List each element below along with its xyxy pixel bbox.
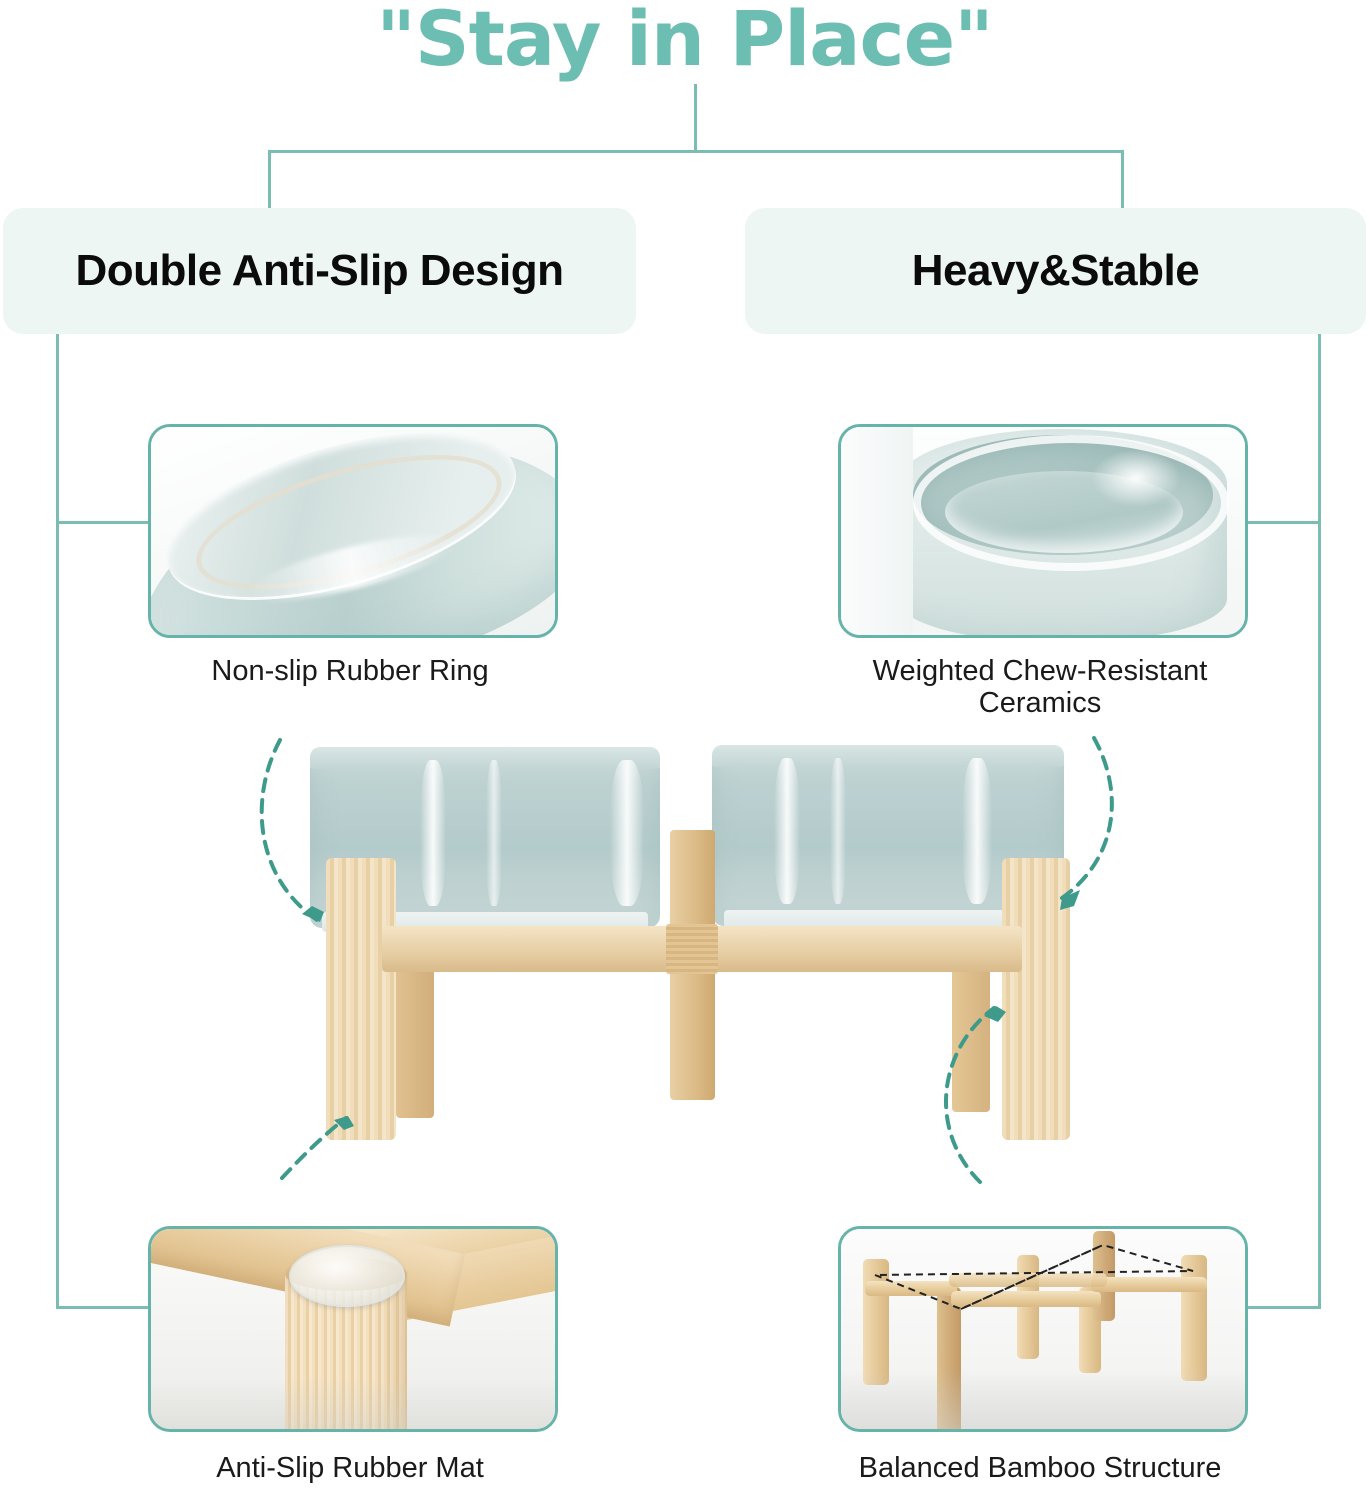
connector-title-stem — [694, 84, 697, 152]
feature-thumbnail-weighted-ceramics — [838, 424, 1248, 638]
photo-anti-slip-rubber-mat — [151, 1229, 555, 1429]
feature-group-header-left: Double Anti-Slip Design — [3, 208, 636, 334]
connector-left-rail-top-branch — [56, 521, 152, 524]
feature-group-header-right: Heavy&Stable — [745, 208, 1366, 334]
feature-caption-anti-slip-rubber-mat: Anti-Slip Rubber Mat — [148, 1452, 552, 1484]
connector-right-rail-top-branch — [1238, 521, 1321, 524]
connector-title-bar — [268, 150, 1124, 153]
connector-left-rail-bottom-branch — [56, 1306, 152, 1309]
feature-group-header-left-label: Double Anti-Slip Design — [76, 246, 564, 296]
feature-thumbnail-anti-slip-rubber-mat — [148, 1226, 558, 1432]
feature-thumbnail-non-slip-rubber-ring — [148, 424, 558, 638]
connector-left-rail — [56, 334, 59, 1309]
photo-non-slip-rubber-ring — [151, 427, 555, 635]
hero-product-image — [262, 730, 1112, 1182]
connector-title-left-drop — [268, 150, 271, 212]
photo-weighted-chew-resistant-ceramics — [841, 427, 1245, 635]
feature-caption-balanced-bamboo-structure: Balanced Bamboo Structure — [838, 1452, 1242, 1484]
feature-caption-weighted-ceramics: Weighted Chew-Resistant Ceramics — [838, 655, 1242, 720]
feature-group-header-right-label: Heavy&Stable — [912, 246, 1199, 296]
page-title: "Stay in Place" — [0, 0, 1369, 83]
feature-caption-non-slip-rubber-ring: Non-slip Rubber Ring — [148, 655, 552, 687]
infographic-root: "Stay in Place" Double Anti-Slip Design … — [0, 0, 1369, 1500]
connector-right-rail-bottom-branch — [1238, 1306, 1321, 1309]
connector-title-right-drop — [1121, 150, 1124, 212]
connector-right-rail — [1318, 334, 1321, 1309]
photo-balanced-bamboo-structure — [841, 1229, 1245, 1429]
feature-thumbnail-balanced-bamboo-structure — [838, 1226, 1248, 1432]
